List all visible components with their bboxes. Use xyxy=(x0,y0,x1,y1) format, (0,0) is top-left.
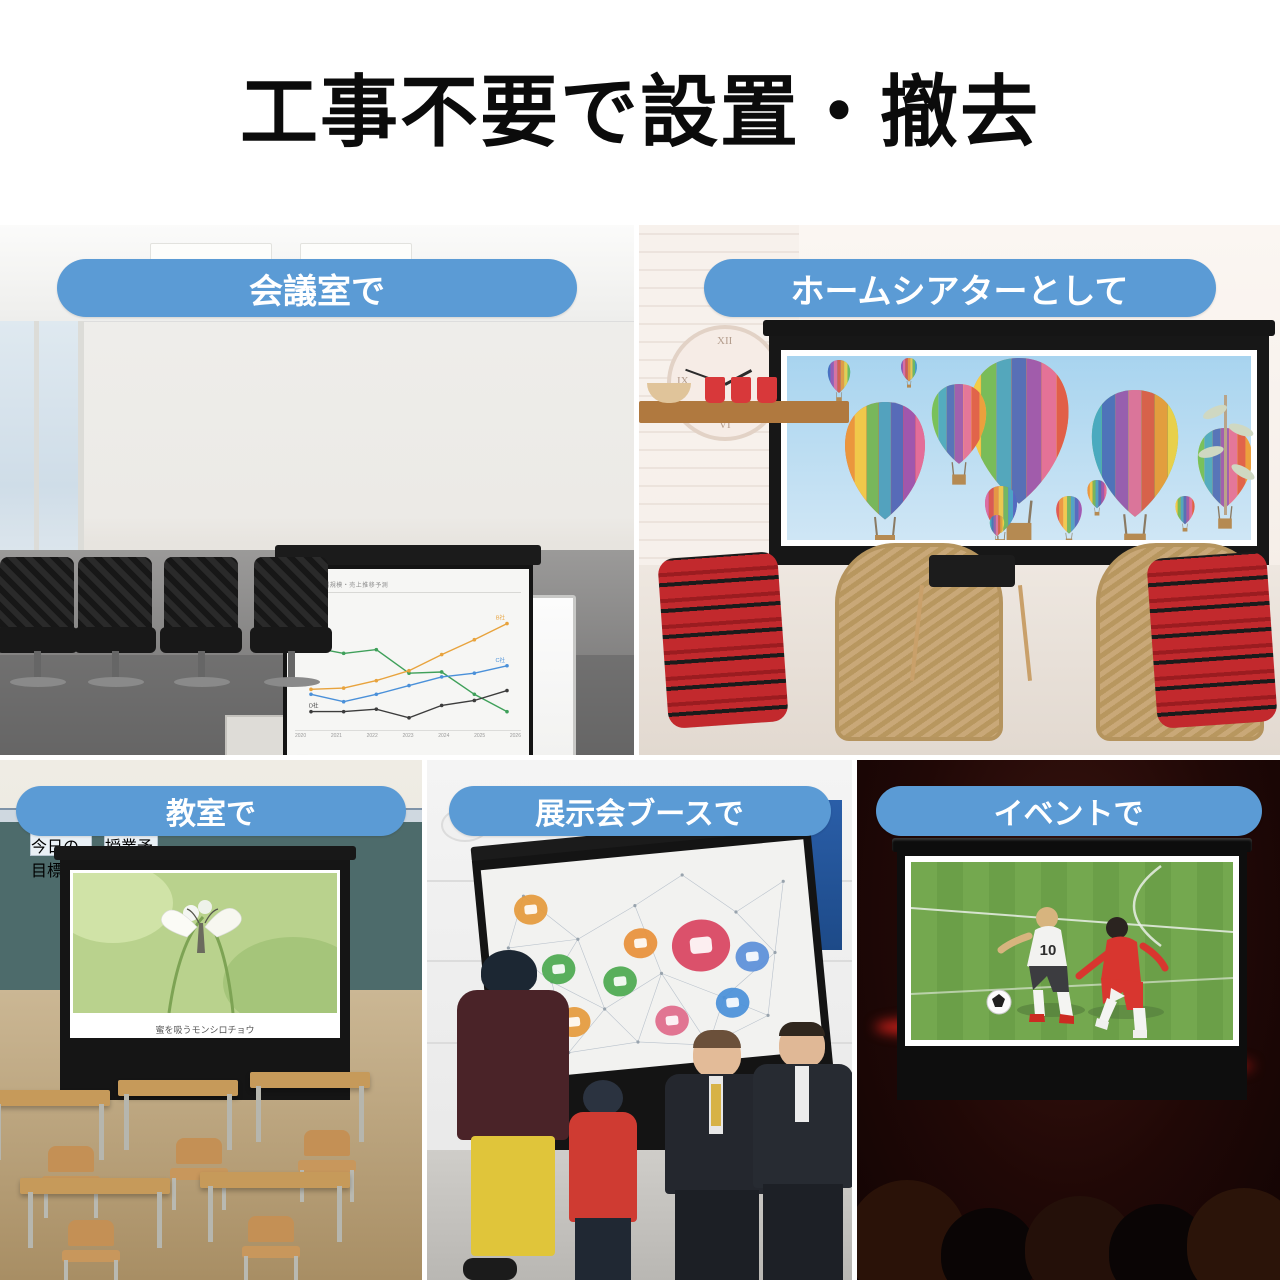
visitor-figure xyxy=(563,1080,643,1280)
red-cup xyxy=(757,377,777,403)
panel-badge-event: イベントで xyxy=(876,786,1262,836)
svg-text:C社: C社 xyxy=(496,656,506,664)
plaid-blanket xyxy=(657,551,789,729)
player-number: 10 xyxy=(1040,942,1057,959)
page-title: 工事不要で設置・撤去 xyxy=(240,74,1040,152)
page-title-bar: 工事不要で設置・撤去 xyxy=(0,0,1280,225)
scene-grid: 01 市場規模・売上推移予測 A社B社C社D社 2020202120222023… xyxy=(0,225,1280,1280)
red-cup xyxy=(731,377,751,403)
node-brain-icon xyxy=(670,917,733,974)
side-table xyxy=(915,585,1027,681)
x-tick-label: 2021 xyxy=(331,733,342,739)
x-tick-label: 2020 xyxy=(295,733,306,739)
audience-silhouette xyxy=(857,1110,1280,1280)
svg-text:B社: B社 xyxy=(496,614,506,622)
student-chair xyxy=(240,1216,302,1280)
panel-badge-meeting-room: 会議室で xyxy=(57,259,577,317)
node-cloud-icon xyxy=(714,986,750,1019)
projector-device xyxy=(929,555,1015,587)
photo-caption: 蜜を吸うモンシロチョウ xyxy=(70,1023,340,1036)
balloons-svg xyxy=(787,356,1251,540)
red-cup xyxy=(705,377,725,403)
hot-air-balloon-image xyxy=(787,356,1251,540)
office-chair xyxy=(158,557,244,697)
panel-badge-home-theater: ホームシアターとして xyxy=(704,259,1216,317)
student-chair xyxy=(60,1220,122,1280)
soccer-scene-svg: 10 xyxy=(911,862,1233,1040)
svg-text:D社: D社 xyxy=(309,702,319,710)
x-tick-label: 2025 xyxy=(474,733,485,739)
office-chair xyxy=(0,557,80,697)
visitor-figure xyxy=(453,950,573,1280)
butterfly-photo xyxy=(73,873,337,1013)
presenter-figure xyxy=(753,1022,852,1280)
chart-x-axis: 2020202120222023202420252026 xyxy=(295,730,521,739)
screen-surface: 10 xyxy=(905,856,1239,1046)
panel-meeting-room: 01 市場規模・売上推移予測 A社B社C社D社 2020202120222023… xyxy=(0,225,634,755)
x-tick-label: 2022 xyxy=(367,733,378,739)
panel-home-theater: XII IX III VI xyxy=(639,225,1280,755)
panel-badge-exhibition: 展示会ブースで xyxy=(449,786,831,836)
x-tick-label: 2023 xyxy=(402,733,413,739)
butterfly-svg xyxy=(73,873,337,1013)
x-tick-label: 2024 xyxy=(438,733,449,739)
screen-top-case xyxy=(54,846,356,860)
soccer-broadcast: 10 xyxy=(911,862,1233,1040)
node-device-icon xyxy=(734,940,770,973)
screen-top-case xyxy=(763,320,1275,336)
wooden-counter xyxy=(639,401,849,423)
node-book-icon xyxy=(602,965,638,998)
panel-exhibition-booth: 展示会ブースで xyxy=(427,760,852,1280)
plaid-blanket xyxy=(1146,551,1278,729)
office-chair xyxy=(72,557,158,697)
promo-page: 工事不要で設置・撤去 01 xyxy=(0,0,1280,1280)
x-tick-label: 2026 xyxy=(510,733,521,739)
panel-classroom: 今日の目標 授業予定 蜜を吸うモンシロチョウ xyxy=(0,760,422,1280)
panel-event: 10 xyxy=(857,760,1280,1280)
office-chair xyxy=(248,557,334,697)
node-factory-icon xyxy=(513,893,549,926)
projector-screen-event: 10 xyxy=(897,838,1247,1138)
node-people-icon xyxy=(622,927,658,960)
panel-badge-classroom: 教室で xyxy=(16,786,406,836)
potted-plant xyxy=(1186,395,1266,515)
screen-surface: 蜜を吸うモンシロチョウ xyxy=(70,870,340,1038)
